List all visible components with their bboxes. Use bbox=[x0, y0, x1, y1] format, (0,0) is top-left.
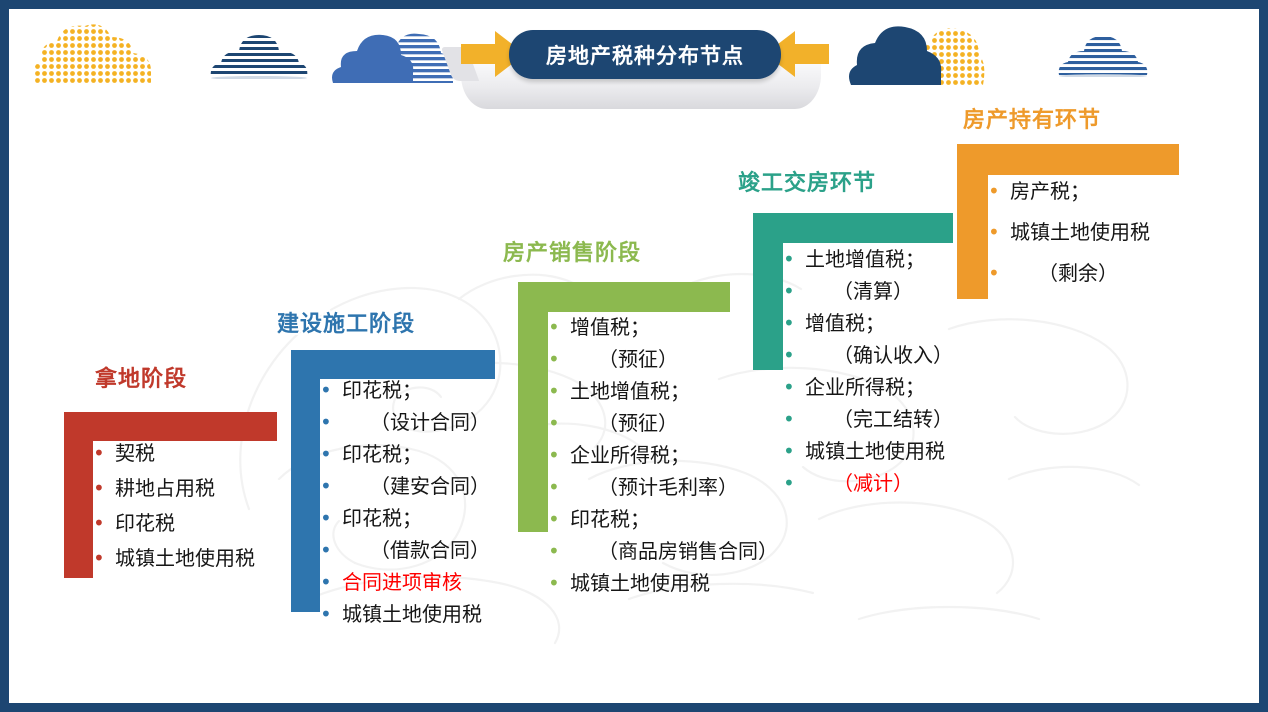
list-item: • （完工结转） bbox=[783, 409, 953, 429]
bullet-icon: • bbox=[548, 413, 564, 433]
cloud-yellow-dotted-right-icon bbox=[847, 23, 987, 87]
bullet-icon: • bbox=[320, 540, 336, 560]
bullet-icon: • bbox=[783, 409, 799, 429]
bullet-icon: • bbox=[93, 513, 109, 533]
stage-bracket-arm-horizontal bbox=[64, 412, 277, 441]
page-title-text: 房地产税种分布节点 bbox=[546, 40, 744, 70]
bullet-icon: • bbox=[93, 478, 109, 498]
bullet-icon: • bbox=[320, 380, 336, 400]
slide-canvas: 房地产税种分布节点 bbox=[9, 9, 1259, 703]
stage-bracket-arm-horizontal bbox=[518, 282, 730, 312]
list-item: • 耕地占用税 bbox=[93, 478, 255, 498]
list-item: • 土地增值税； bbox=[548, 381, 778, 401]
cloud-navy-solid-right-icon bbox=[849, 26, 941, 85]
list-item: • （预征） bbox=[548, 349, 778, 369]
slide-frame: 房地产税种分布节点 bbox=[0, 0, 1268, 712]
bullet-icon: • bbox=[320, 508, 336, 528]
list-item: • 印花税； bbox=[320, 508, 490, 528]
stage-label-completion-delivery: 竣工交房环节 bbox=[738, 165, 876, 197]
list-item: • 城镇土地使用税 bbox=[548, 573, 778, 593]
bullet-icon: • bbox=[988, 263, 1004, 283]
list-item: • 城镇土地使用税 bbox=[320, 604, 490, 624]
bullet-icon: • bbox=[783, 377, 799, 397]
cloud-blue-striped-right-icon bbox=[1057, 31, 1149, 77]
stage-bracket-arm-vertical bbox=[957, 144, 988, 299]
bullet-icon: • bbox=[783, 313, 799, 333]
list-item: • 增值税； bbox=[548, 317, 778, 337]
bullet-icon: • bbox=[93, 548, 109, 568]
cloud-navy-striped-left-icon bbox=[209, 29, 309, 79]
stage-label-property-sales: 房产销售阶段 bbox=[503, 235, 641, 267]
list-item: • 契税 bbox=[93, 443, 255, 463]
bullet-icon: • bbox=[548, 349, 564, 369]
bullet-icon: • bbox=[320, 572, 336, 592]
bullet-icon: • bbox=[783, 249, 799, 269]
bullet-icon: • bbox=[320, 476, 336, 496]
list-item: • 印花税； bbox=[320, 380, 490, 400]
stage-bracket-arm-vertical bbox=[64, 412, 93, 578]
bullet-icon: • bbox=[548, 381, 564, 401]
bullet-icon: • bbox=[548, 509, 564, 529]
stage-bracket-arm-horizontal bbox=[957, 144, 1179, 175]
list-item: • 印花税 bbox=[93, 513, 255, 533]
bullet-icon: • bbox=[783, 281, 799, 301]
list-item: • （剩余） bbox=[988, 263, 1150, 283]
cloud-blue-solid-mid-icon bbox=[331, 27, 455, 85]
list-item: • 合同进项审核 bbox=[320, 572, 490, 592]
stage-items-completion-delivery: • 土地增值税； • （清算） • 增值税； • （确认收入） • 企业所得税；… bbox=[783, 249, 953, 493]
bullet-icon: • bbox=[548, 317, 564, 337]
stage-bracket-arm-vertical bbox=[518, 282, 548, 532]
list-item: • 土地增值税； bbox=[783, 249, 953, 269]
list-item: • 城镇土地使用税 bbox=[988, 222, 1150, 242]
stage-label-construction: 建设施工阶段 bbox=[277, 306, 415, 338]
list-item: • 城镇土地使用税 bbox=[93, 548, 255, 568]
list-item: • 企业所得税； bbox=[783, 377, 953, 397]
bullet-icon: • bbox=[783, 345, 799, 365]
list-item: • 增值税； bbox=[783, 313, 953, 333]
bullet-icon: • bbox=[320, 604, 336, 624]
list-item: • （设计合同） bbox=[320, 412, 490, 432]
bullet-icon: • bbox=[783, 441, 799, 461]
stage-bracket-arm-horizontal bbox=[753, 213, 953, 243]
bullet-icon: • bbox=[988, 181, 1004, 201]
bullet-icon: • bbox=[320, 412, 336, 432]
list-item: • 企业所得税； bbox=[548, 445, 778, 465]
cloud-yellow-dotted-left-icon bbox=[27, 21, 157, 85]
bullet-icon: • bbox=[320, 444, 336, 464]
list-item: • （建安合同） bbox=[320, 476, 490, 496]
stage-bracket-arm-vertical bbox=[291, 350, 320, 612]
bullet-icon: • bbox=[548, 541, 564, 561]
bullet-icon: • bbox=[548, 445, 564, 465]
bullet-icon: • bbox=[548, 573, 564, 593]
list-item: • 印花税； bbox=[320, 444, 490, 464]
list-item: • （确认收入） bbox=[783, 345, 953, 365]
list-item: • （商品房销售合同） bbox=[548, 541, 778, 561]
list-item: • （减计） bbox=[783, 473, 953, 493]
stage-bracket-arm-horizontal bbox=[291, 350, 495, 379]
bullet-icon: • bbox=[548, 477, 564, 497]
page-title: 房地产税种分布节点 bbox=[509, 30, 781, 79]
list-item: • （清算） bbox=[783, 281, 953, 301]
stage-items-construction: • 印花税； • （设计合同） • 印花税； • （建安合同） • 印花税； •… bbox=[320, 380, 490, 624]
bullet-icon: • bbox=[783, 473, 799, 493]
list-item: • 城镇土地使用税 bbox=[783, 441, 953, 461]
bullet-icon: • bbox=[988, 222, 1004, 242]
stage-items-land-acquisition: • 契税 • 耕地占用税 • 印花税 • 城镇土地使用税 bbox=[93, 443, 255, 568]
list-item: • （借款合同） bbox=[320, 540, 490, 560]
stage-label-property-holding: 房产持有环节 bbox=[963, 102, 1101, 134]
list-item: • 印花税； bbox=[548, 509, 778, 529]
list-item: • （预征） bbox=[548, 413, 778, 433]
stage-items-property-holding: • 房产税； • 城镇土地使用税 • （剩余） bbox=[988, 181, 1150, 283]
bullet-icon: • bbox=[93, 443, 109, 463]
stage-label-land-acquisition: 拿地阶段 bbox=[95, 361, 187, 393]
stage-items-property-sales: • 增值税； • （预征） • 土地增值税； • （预征） • 企业所得税； •… bbox=[548, 317, 778, 593]
list-item: • （预计毛利率） bbox=[548, 477, 778, 497]
stage-bracket-arm-vertical bbox=[753, 213, 783, 370]
list-item: • 房产税； bbox=[988, 181, 1150, 201]
